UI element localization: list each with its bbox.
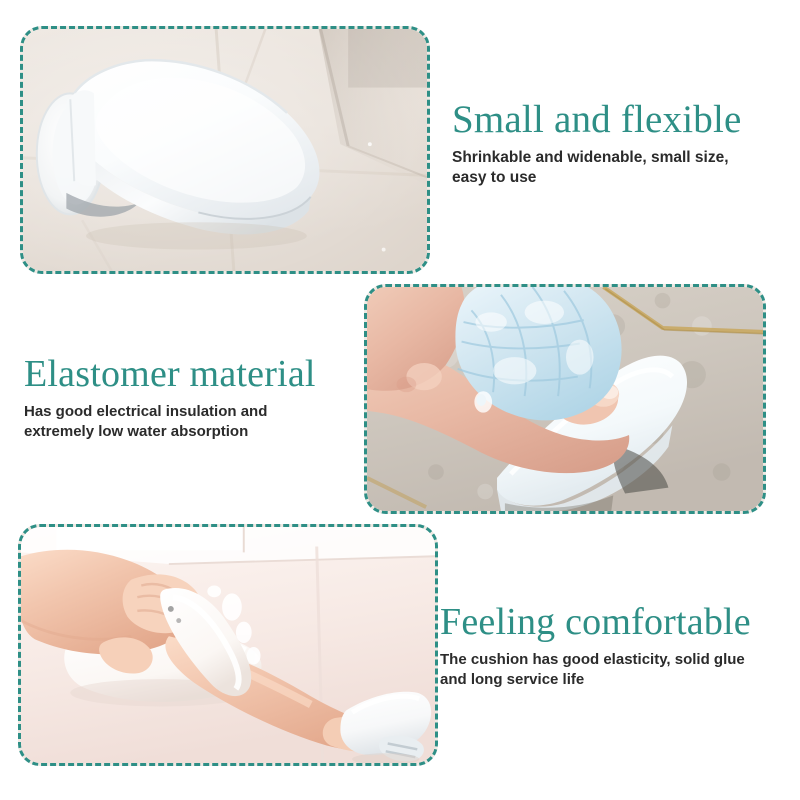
feature-image-panel-small-flexible	[20, 26, 430, 274]
feature-heading-feeling-comfortable: Feeling comfortable	[440, 600, 792, 644]
photo-foot-on-footrest-with-blue-loofah	[367, 287, 763, 511]
feature-text-elastomer-material: Elastomer material Has good electrical i…	[24, 352, 368, 442]
feature-subtext-elastomer-material: Has good electrical insulation and extre…	[24, 402, 368, 442]
feature-subtext-feeling-comfortable: The cushion has good elasticity, solid g…	[440, 650, 792, 690]
feature-heading-elastomer-material: Elastomer material	[24, 352, 368, 396]
photo-woman-shaving-leg-with-foot-on-footrest	[21, 527, 435, 763]
feature-subtext-small-flexible: Shrinkable and widenable, small size, ea…	[452, 148, 788, 188]
feature-text-feeling-comfortable: Feeling comfortable The cushion has good…	[440, 600, 792, 690]
feature-text-small-flexible: Small and flexible Shrinkable and widena…	[452, 98, 788, 188]
product-infographic: { "page": { "background_color": "#ffffff…	[0, 0, 800, 800]
feature-image-panel-feeling-comfortable	[18, 524, 438, 766]
feature-image-panel-elastomer-material	[364, 284, 766, 514]
photo-shower-footrest-mounted-on-tile-wall	[23, 29, 427, 271]
feature-heading-small-flexible: Small and flexible	[452, 98, 788, 142]
